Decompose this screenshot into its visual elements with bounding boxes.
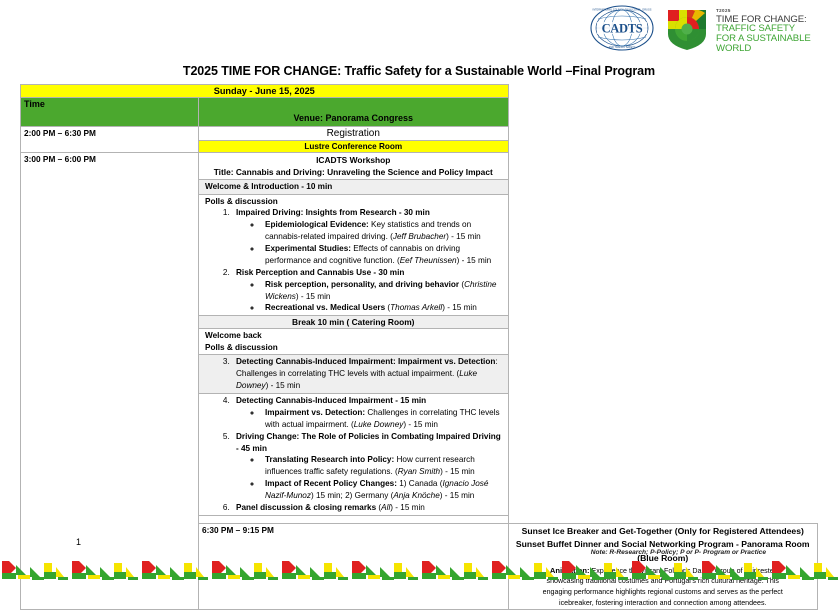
item2-sublist: Risk perception, personality, and drivin… (236, 279, 505, 315)
footer-triangle-pattern (0, 559, 838, 581)
list-item: Translating Research into Policy: How cu… (262, 454, 505, 478)
list-item: Risk Perception and Cannabis Use - 30 mi… (232, 267, 505, 315)
item6-speaker: All (381, 503, 390, 512)
item5-sub0-speaker: Ryan Smith (398, 467, 440, 476)
item5-sub0-bold: Translating Research into Policy: (265, 455, 394, 464)
svg-text:CADTS: CADTS (602, 22, 643, 36)
item1-sub1-speaker: Eef Theunissen (400, 256, 457, 265)
item3-tail: ) - 15 min (266, 381, 301, 390)
item1-title: Impaired Driving: Insights from Research… (236, 208, 430, 217)
date-banner: Sunday - June 15, 2025 (21, 85, 509, 98)
t2025-shield-logo (665, 7, 709, 51)
item4-sub0-bold: Impairment vs. Detection: (265, 408, 365, 417)
column-header-time: Time (21, 98, 199, 127)
item2-sub1-bold: Recreational vs. Medical Users (265, 303, 385, 312)
polls-discussion-label-2: Polls & discussion (202, 342, 505, 353)
list-item: Panel discussion & closing remarks (All)… (232, 502, 505, 514)
item5-sub1-tail: ) - 15 min (440, 491, 475, 500)
table-header-row: Time Venue: Panorama Congress (21, 98, 818, 127)
item2-sub1-speaker: Thomas Arkell (390, 303, 442, 312)
list-item: Experimental Studies: Effects of cannabi… (262, 243, 505, 267)
list-item: Driving Change: The Role of Policies in … (232, 431, 505, 502)
page-title: T2025 TIME FOR CHANGE: Traffic Safety fo… (0, 64, 838, 78)
t2025-tiny-label: T2025 (716, 9, 834, 14)
break-label: Break 10 min ( Catering Room) (202, 317, 505, 327)
registration-time: 2:00 PM – 6:30 PM (21, 127, 199, 153)
list-item: Impaired Driving: Insights from Research… (232, 207, 505, 266)
table-row-workshop-title: 3:00 PM – 6:00 PM ICADTS Workshop Title:… (21, 153, 818, 180)
registration-room: Lustre Conference Room (199, 141, 509, 153)
item2-title: Risk Perception and Cannabis Use - 30 mi… (236, 268, 404, 277)
spacer-cell (199, 515, 509, 523)
item3-bold: Detecting Cannabis-Induced Impairment: I… (236, 357, 495, 366)
items-4-5-6-cell: Detecting Cannabis-Induced Impairment - … (199, 394, 509, 516)
decorative-footer-pattern (0, 559, 838, 581)
item1-sub0-speaker: Jeff Brubacher (393, 232, 446, 241)
table-row-registration: 2:00 PM – 6:30 PM Registration (21, 127, 818, 141)
item6-tail: ) - 15 min (390, 503, 425, 512)
item5-title: Driving Change: The Role of Policies in … (236, 432, 501, 453)
welcome-intro-cell: Welcome & Introduction - 10 min (199, 180, 509, 194)
registration-label: Registration (199, 127, 509, 141)
list-item: Recreational vs. Medical Users (Thomas A… (262, 302, 505, 314)
item1-sub1-tail: ) - 15 min (457, 256, 492, 265)
item2-sub1-tail: ) - 15 min (442, 303, 477, 312)
icadts-logo: CADTS INTERNATIONAL COUNCIL ON ALCOHOL, … (589, 5, 655, 51)
list-item: Impact of Recent Policy Changes: 1) Cana… (262, 478, 505, 502)
list-item: Epidemiological Evidence: Key statistics… (262, 219, 505, 243)
item2-sub0-bold: Risk perception, personality, and drivin… (265, 280, 459, 289)
column-header-venue: Venue: Panorama Congress (199, 98, 509, 127)
svg-text:AND TRAFFIC SAFETY: AND TRAFFIC SAFETY (609, 46, 636, 49)
item5-sub1-speaker2: Anja Knöche (393, 491, 439, 500)
item3-cell: Detecting Cannabis-Induced Impairment: I… (199, 355, 509, 394)
list-item: Risk perception, personality, and drivin… (262, 279, 505, 303)
workshop-item-list-a: Impaired Driving: Insights from Research… (202, 207, 505, 314)
workshop-items-1-2-cell: Polls & discussion Impaired Driving: Ins… (199, 194, 509, 316)
item6-bold: Panel discussion & closing remarks (236, 503, 376, 512)
page-number: 1 (76, 537, 81, 547)
header-logo-bar: CADTS INTERNATIONAL COUNCIL ON ALCOHOL, … (0, 0, 838, 58)
list-item: Detecting Cannabis-Induced Impairment - … (232, 395, 505, 431)
break-cell: Break 10 min ( Catering Room) (199, 316, 509, 329)
list-item: Impairment vs. Detection: Challenges in … (262, 407, 505, 431)
item2-sub0-tail: ) - 15 min (296, 292, 331, 301)
t2025-wordmark: T2025 TIME FOR CHANGE: TRAFFIC SAFETY FO… (716, 9, 834, 54)
item4-sublist: Impairment vs. Detection: Challenges in … (236, 407, 505, 431)
workshop-item-list-c: Detecting Cannabis-Induced Impairment - … (202, 395, 505, 514)
list-item: Detecting Cannabis-Induced Impairment: I… (232, 356, 505, 392)
item4-title: Detecting Cannabis-Induced Impairment - … (236, 396, 426, 405)
program-table: Sunday - June 15, 2025 Time Venue: Panor… (20, 84, 818, 610)
workshop-title-cell: ICADTS Workshop Title: Cannabis and Driv… (199, 153, 509, 180)
item5-sub1-mid: ) 15 min; 2) Germany ( (311, 491, 393, 500)
welcome-back-label: Welcome back (202, 330, 505, 341)
item1-sub0-tail: ) - 15 min (446, 232, 481, 241)
welcome-intro-label: Welcome & Introduction - 10 min (202, 181, 505, 192)
item5-sub1-bold: Impact of Recent Policy Changes: (265, 479, 397, 488)
item5-sub1-text: 1) Canada ( (397, 479, 443, 488)
item4-sub0-tail: ) - 15 min (403, 420, 438, 429)
polls-discussion-label: Polls & discussion (202, 196, 505, 207)
welcome-back-cell: Welcome back Polls & discussion (199, 329, 509, 355)
workshop-time: 3:00 PM – 6:00 PM (21, 153, 199, 610)
item4-sub0-speaker: Luke Downey (354, 420, 404, 429)
item1-sub1-bold: Experimental Studies: (265, 244, 351, 253)
item1-sublist: Epidemiological Evidence: Key statistics… (236, 219, 505, 267)
item5-sublist: Translating Research into Policy: How cu… (236, 454, 505, 502)
svg-text:INTERNATIONAL COUNCIL ON ALCOH: INTERNATIONAL COUNCIL ON ALCOHOL, DRUGS (593, 9, 652, 12)
evening-line1: Sunset Ice Breaker and Get-Together (Onl… (512, 525, 815, 538)
item1-sub0-bold: Epidemiological Evidence: (265, 220, 369, 229)
workshop-heading: ICADTS Workshop (202, 154, 505, 166)
workshop-subheading: Title: Cannabis and Driving: Unraveling … (202, 166, 505, 178)
workshop-item-list-b: Detecting Cannabis-Induced Impairment: I… (202, 356, 505, 392)
item5-sub0-tail: ) - 15 min (440, 467, 475, 476)
legend-note: Note: R-Research; P-Policy; P or P- Prog… (591, 549, 766, 556)
t2025-line4: WORLD (716, 44, 834, 54)
date-banner-row: Sunday - June 15, 2025 (21, 85, 818, 98)
